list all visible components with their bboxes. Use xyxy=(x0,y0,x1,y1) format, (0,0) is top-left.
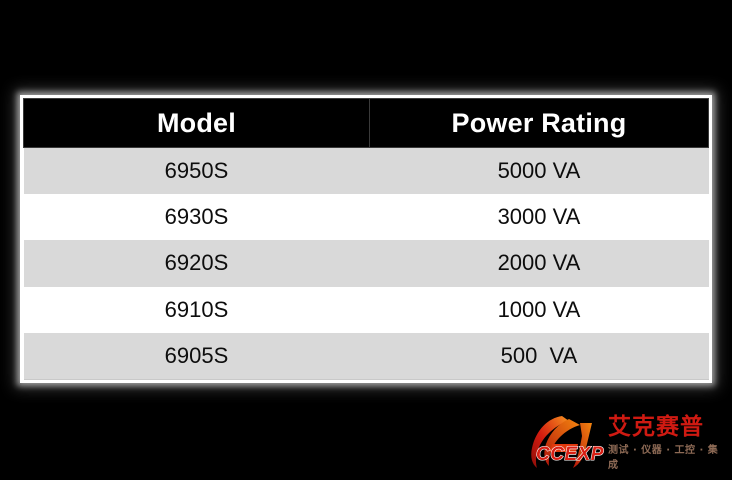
cell-power: 1000 VA xyxy=(369,287,708,333)
logo-text-block: 艾克赛普 测试 · 仪器 · 工控 · 集成 xyxy=(608,415,726,471)
spec-table-frame: Model Power Rating 6950S 5000 VA 6930S 3… xyxy=(20,95,712,383)
cell-model: 6950S xyxy=(24,148,370,195)
table-row: 6910S 1000 VA xyxy=(24,287,709,333)
table-header-row: Model Power Rating xyxy=(24,99,709,148)
table-row: 6920S 2000 VA xyxy=(24,240,709,286)
spec-table: Model Power Rating 6950S 5000 VA 6930S 3… xyxy=(23,98,709,380)
logo-chinese-name: 艾克赛普 xyxy=(608,415,726,439)
table-row: 6930S 3000 VA xyxy=(24,194,709,240)
cell-power: 500 VA xyxy=(369,333,708,380)
logo-wordmark: CCEXP xyxy=(536,444,604,466)
table-row: 6950S 5000 VA xyxy=(24,148,709,195)
cell-power: 5000 VA xyxy=(369,148,708,195)
table-header: Model Power Rating xyxy=(24,99,709,148)
cell-model: 6905S xyxy=(24,333,370,380)
logo-tagline: 测试 · 仪器 · 工控 · 集成 xyxy=(608,441,726,471)
cell-power: 2000 VA xyxy=(369,240,708,286)
table-row: 6905S 500 VA xyxy=(24,333,709,380)
column-header-model: Model xyxy=(24,99,370,148)
cell-model: 6930S xyxy=(24,194,370,240)
accexp-a-swoosh-icon: CCEXP xyxy=(528,414,606,472)
column-header-power-rating: Power Rating xyxy=(369,99,708,148)
cell-power: 3000 VA xyxy=(369,194,708,240)
slide-canvas: Model Power Rating 6950S 5000 VA 6930S 3… xyxy=(0,0,732,480)
cell-model: 6910S xyxy=(24,287,370,333)
cell-model: 6920S xyxy=(24,240,370,286)
table-body: 6950S 5000 VA 6930S 3000 VA 6920S 2000 V… xyxy=(24,148,709,380)
accexp-logo: CCEXP 艾克赛普 测试 · 仪器 · 工控 · 集成 xyxy=(528,412,726,474)
